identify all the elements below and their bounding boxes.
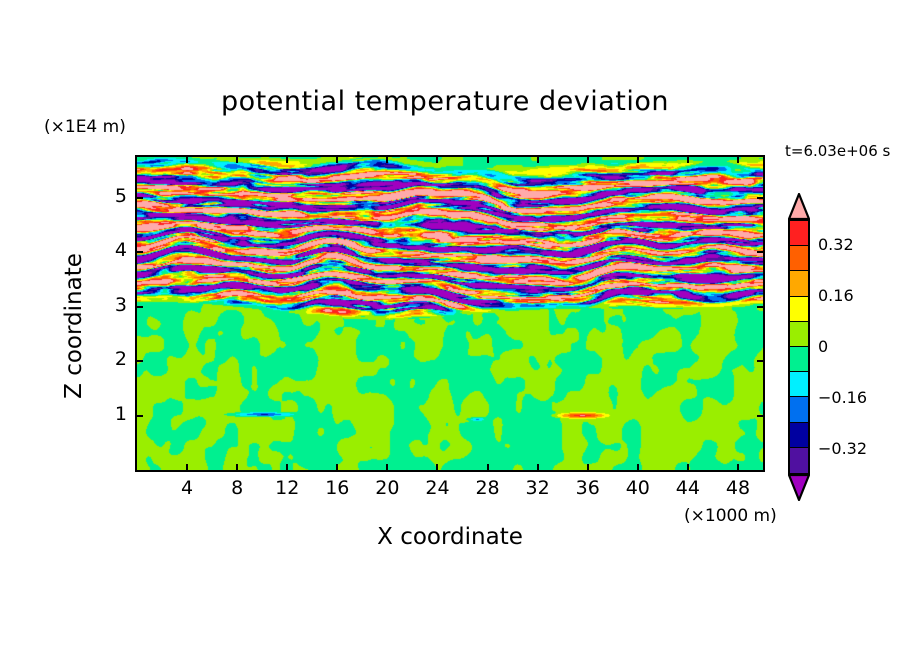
page-title: potential temperature deviation [0,86,904,117]
y-axis-title: Z coordinate [61,216,87,436]
x-axis-title: X coordinate [135,524,765,550]
colorbar-band [790,322,808,347]
x-axis-tick-label: 44 [666,477,710,499]
x-axis-tick [737,464,739,472]
x-axis-tick-label: 4 [165,477,209,499]
x-axis-tick [737,155,739,163]
colorbar-tick-label: 0 [818,337,828,356]
y-axis-tick [757,306,765,308]
y-axis-tick-label: 4 [95,239,127,261]
y-axis-tick [135,251,143,253]
x-axis-tick [386,464,388,472]
x-axis-tick-label: 40 [616,477,660,499]
x-axis-tick-label: 8 [215,477,259,499]
x-axis-tick [587,155,589,163]
colorbar-under-cap [788,474,810,500]
x-axis-tick-label: 12 [265,477,309,499]
x-axis-tick [436,155,438,163]
colorbar-band [790,246,808,271]
y-axis-tick-label: 3 [95,294,127,316]
x-axis-tick [236,155,238,163]
y-axis-tick [757,360,765,362]
x-axis-unit-label: (×1000 m) [684,506,777,526]
x-axis-tick [236,464,238,472]
plot-area [135,155,765,472]
x-axis-tick [687,155,689,163]
x-axis-tick [637,464,639,472]
x-axis-tick [186,155,188,163]
x-axis-tick [286,464,288,472]
colorbar-band [790,397,808,422]
colorbar-tick-label: −0.32 [818,439,867,458]
x-axis-tick [537,464,539,472]
y-axis-tick [135,197,143,199]
x-axis-tick-label: 36 [566,477,610,499]
colorbar-tick-label: 0.32 [818,235,854,254]
x-axis-tick-label: 20 [365,477,409,499]
x-axis-tick-label: 16 [315,477,359,499]
x-axis-tick [487,155,489,163]
colorbar: 0.320.160−0.16−0.32 [780,195,820,515]
x-axis-tick [336,464,338,472]
y-axis-unit-label: (×1E4 m) [44,117,126,137]
y-axis-tick-label: 1 [95,403,127,425]
y-axis-tick [135,360,143,362]
y-axis-tick [757,415,765,417]
colorbar-band [790,448,808,473]
x-axis-tick-label: 24 [415,477,459,499]
x-axis-tick [587,464,589,472]
y-axis-tick [757,197,765,199]
colorbar-bands [788,219,810,475]
time-annotation: t=6.03e+06 s [785,142,890,160]
x-axis-tick [537,155,539,163]
x-axis-tick-label: 28 [466,477,510,499]
contour-field-canvas [137,157,763,470]
x-axis-tick [687,464,689,472]
colorbar-band [790,372,808,397]
x-axis-tick [186,464,188,472]
colorbar-band [790,297,808,322]
y-axis-tick [757,251,765,253]
x-axis-tick [487,464,489,472]
y-axis-tick-label: 5 [95,185,127,207]
colorbar-band [790,347,808,372]
colorbar-over-cap [788,193,810,219]
x-axis-tick [637,155,639,163]
x-axis-tick-label: 32 [516,477,560,499]
y-axis-tick [135,415,143,417]
x-axis-tick [336,155,338,163]
colorbar-tick-label: 0.16 [818,286,854,305]
colorbar-band [790,423,808,448]
colorbar-band [790,271,808,296]
y-axis-tick-label: 2 [95,348,127,370]
y-axis-tick [135,306,143,308]
x-axis-tick-label: 48 [716,477,760,499]
x-axis-tick [386,155,388,163]
x-axis-tick [286,155,288,163]
x-axis-tick [436,464,438,472]
colorbar-band [790,221,808,246]
plot-title-text: potential temperature deviation [221,86,669,117]
colorbar-tick-label: −0.16 [818,388,867,407]
